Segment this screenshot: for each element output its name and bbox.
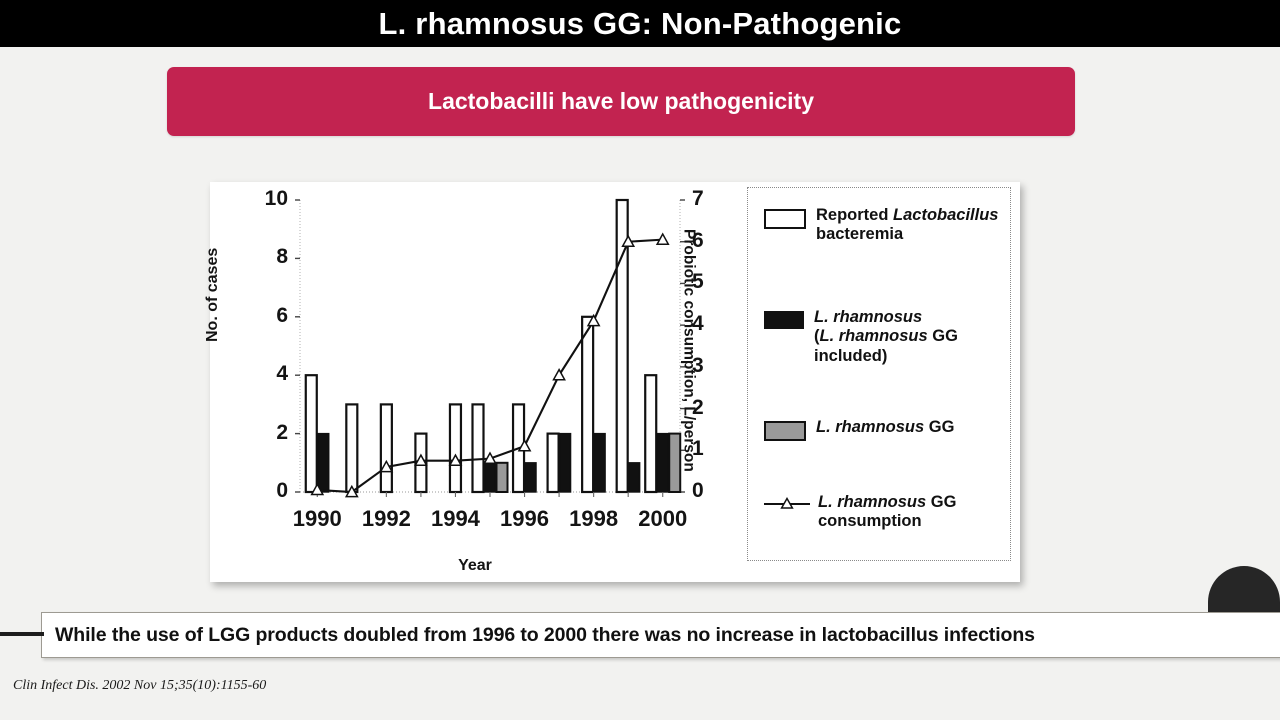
citation-text: Clin Infect Dis. 2002 Nov 15;35(10):1155… [13, 678, 266, 694]
x-tick-1994: 1994 [420, 506, 490, 532]
y-tick-left: 4 [254, 362, 288, 386]
caption-accent-rule [0, 632, 44, 636]
x-tick-1996: 1996 [490, 506, 560, 532]
x-tick-2000: 2000 [628, 506, 698, 532]
legend-item-4: L. rhamnosus GGconsumption [764, 493, 1000, 532]
caption-text: While the use of LGG products doubled fr… [42, 624, 1035, 647]
legend-label: L. rhamnosus GGconsumption [818, 493, 956, 532]
y-tick-left: 8 [254, 245, 288, 269]
highlight-banner: Lactobacilli have low pathogenicity [167, 67, 1075, 136]
legend-label: L. rhamnosus(L. rhamnosus GGincluded) [814, 308, 958, 366]
legend-label: Reported Lactobacillus bacteremia [816, 206, 1000, 245]
legend-item-3: L. rhamnosus GG [764, 418, 1000, 441]
y-tick-left: 6 [254, 304, 288, 328]
banner-label: Lactobacilli have low pathogenicity [428, 88, 814, 115]
y-tick-left: 10 [254, 187, 288, 211]
x-tick-1998: 1998 [559, 506, 629, 532]
legend-label: L. rhamnosus GG [816, 418, 954, 437]
slide-title-bar: L. rhamnosus GG: Non-Pathogenic [0, 0, 1280, 47]
y-tick-right: 2 [692, 396, 714, 420]
legend-swatch-line-marker-icon [764, 496, 808, 512]
y-tick-right: 6 [692, 229, 714, 253]
legend-swatch-open-bar-icon [764, 209, 806, 229]
y-tick-right: 7 [692, 187, 714, 211]
legend-swatch-gray-bar-icon [764, 421, 806, 441]
y-axis-left-title: No. of cases [204, 248, 222, 342]
page-title: L. rhamnosus GG: Non-Pathogenic [379, 6, 902, 42]
y-tick-right: 5 [692, 270, 714, 294]
y-tick-right: 3 [692, 354, 714, 378]
y-tick-left: 2 [254, 421, 288, 445]
figure-panel: No. of cases Probiotic consumption, L/pe… [210, 182, 1020, 582]
y-tick-right: 1 [692, 437, 714, 461]
y-tick-right: 0 [692, 479, 714, 503]
legend-item-1: Reported Lactobacillus bacteremia [764, 206, 1000, 245]
x-axis-title: Year [210, 557, 740, 575]
caption-box: While the use of LGG products doubled fr… [41, 612, 1280, 658]
chart-legend: Reported Lactobacillus bacteremiaL. rham… [747, 187, 1011, 561]
y-tick-left: 0 [254, 479, 288, 503]
chart-plot-area: No. of cases Probiotic consumption, L/pe… [210, 182, 1020, 582]
x-tick-1990: 1990 [282, 506, 352, 532]
legend-item-2: L. rhamnosus(L. rhamnosus GGincluded) [764, 308, 1000, 366]
x-tick-1992: 1992 [351, 506, 421, 532]
y-tick-right: 4 [692, 312, 714, 336]
legend-swatch-solid-bar-icon [764, 311, 804, 329]
